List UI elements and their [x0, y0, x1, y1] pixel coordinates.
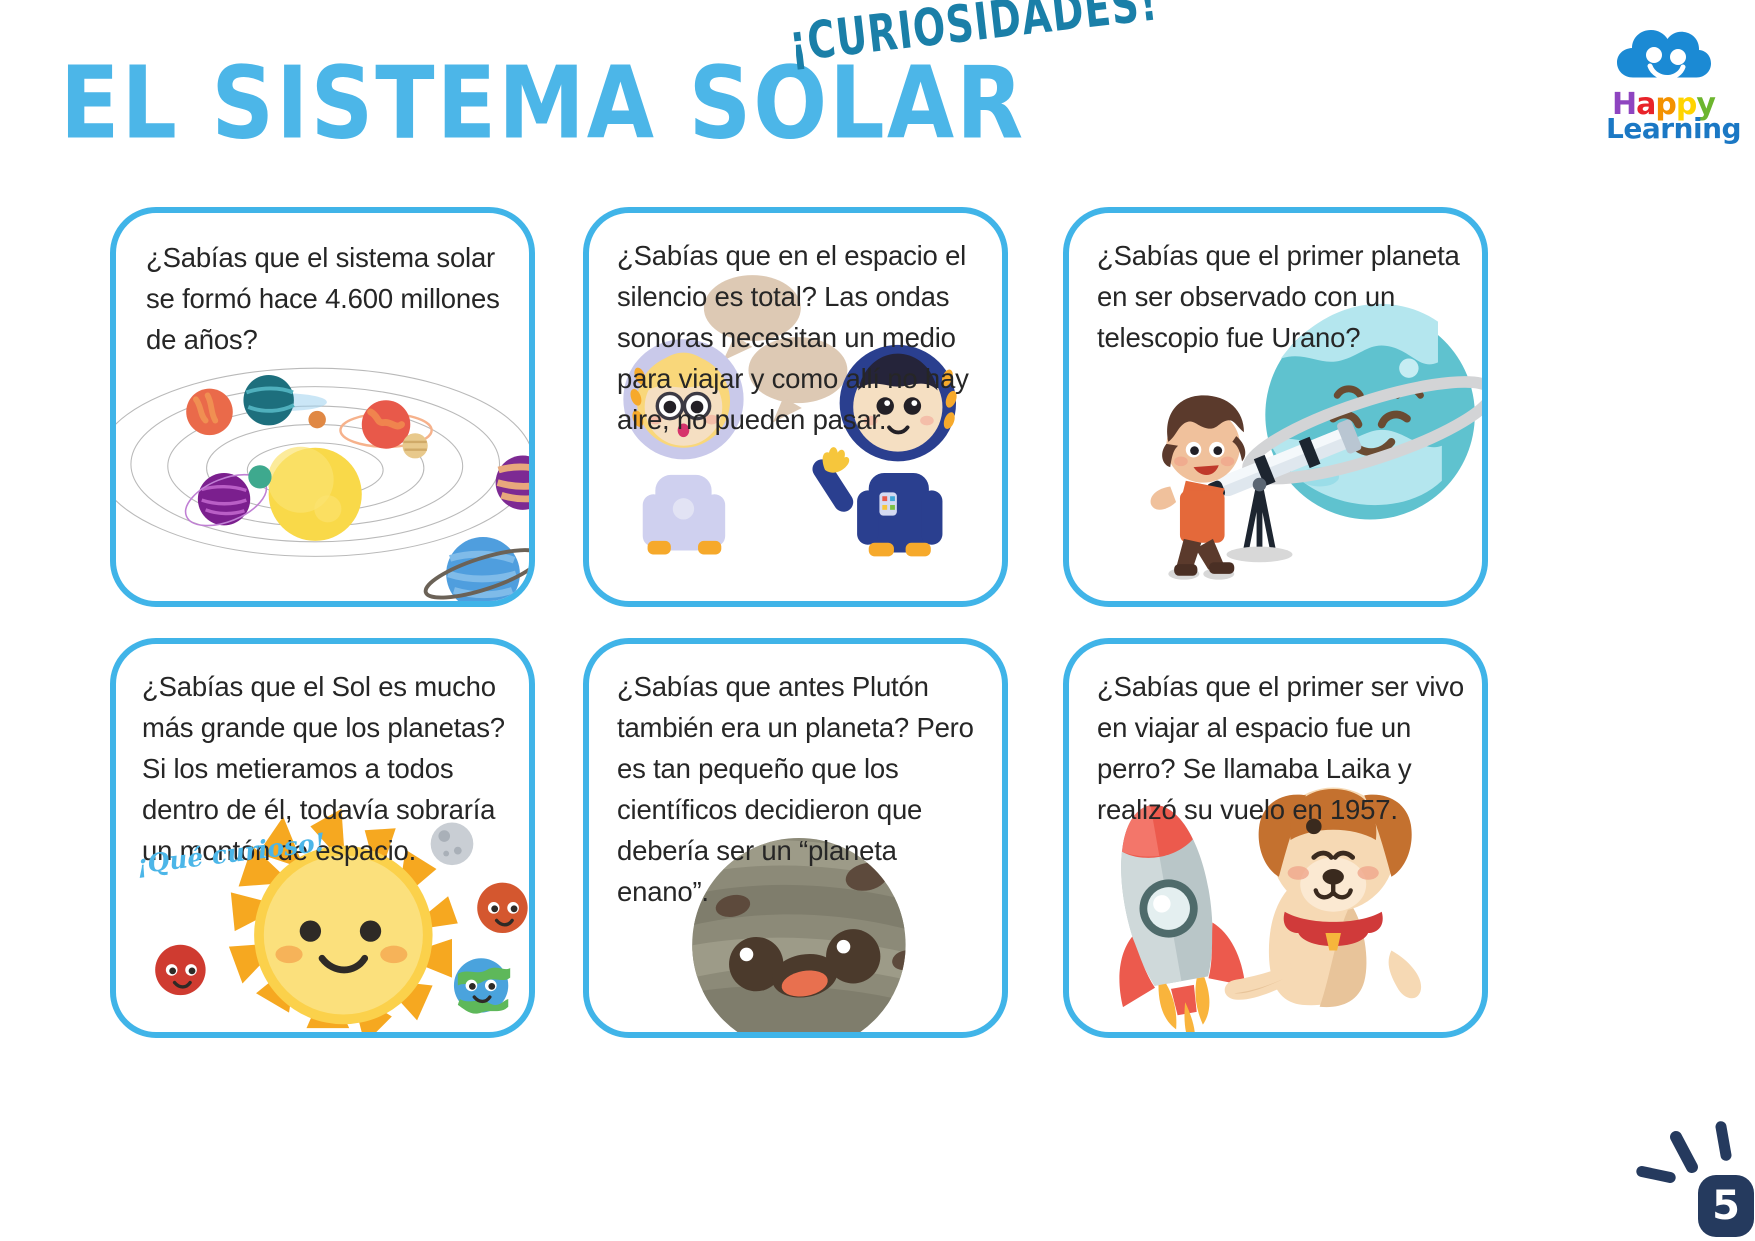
card-space-silence[interactable]: ¿Sabías que en el espacio el silencio es…: [583, 207, 1008, 607]
facts-grid: ¿Sabías que el sistema solar se formó ha…: [0, 0, 1755, 1241]
spark-dash-mid-left: [1668, 1129, 1700, 1175]
page-number-value: 5: [1698, 1175, 1754, 1237]
page-number-badge: 5: [1698, 1175, 1754, 1237]
spark-dash-mid-right: [1715, 1120, 1733, 1161]
page-number-group: 5: [1600, 1095, 1755, 1241]
card-uranus-telescope[interactable]: ¿Sabías que el primer planeta en ser obs…: [1063, 207, 1488, 607]
card-space-silence-text: ¿Sabías que en el espacio el silencio es…: [617, 235, 995, 440]
card-sun-size[interactable]: ¿Sabías que el Sol es mucho más grande q…: [110, 638, 535, 1038]
card-solar-system-age-text: ¿Sabías que el sistema solar se formó ha…: [146, 237, 516, 360]
card-sun-size-text: ¿Sabías que el Sol es mucho más grande q…: [142, 666, 527, 871]
card-pluto-dwarf[interactable]: ¿Sabías que antes Plutón también era un …: [583, 638, 1008, 1038]
card-pluto-dwarf-text: ¿Sabías que antes Plutón también era un …: [617, 666, 993, 912]
card-uranus-telescope-text: ¿Sabías que el primer planeta en ser obs…: [1097, 235, 1473, 358]
card-solar-system-age[interactable]: ¿Sabías que el sistema solar se formó ha…: [110, 207, 535, 607]
card-laika-dog[interactable]: ¿Sabías que el primer ser vivo en viajar…: [1063, 638, 1488, 1038]
spark-dash-left: [1635, 1165, 1676, 1184]
card-laika-dog-text: ¿Sabías que el primer ser vivo en viajar…: [1097, 666, 1473, 830]
